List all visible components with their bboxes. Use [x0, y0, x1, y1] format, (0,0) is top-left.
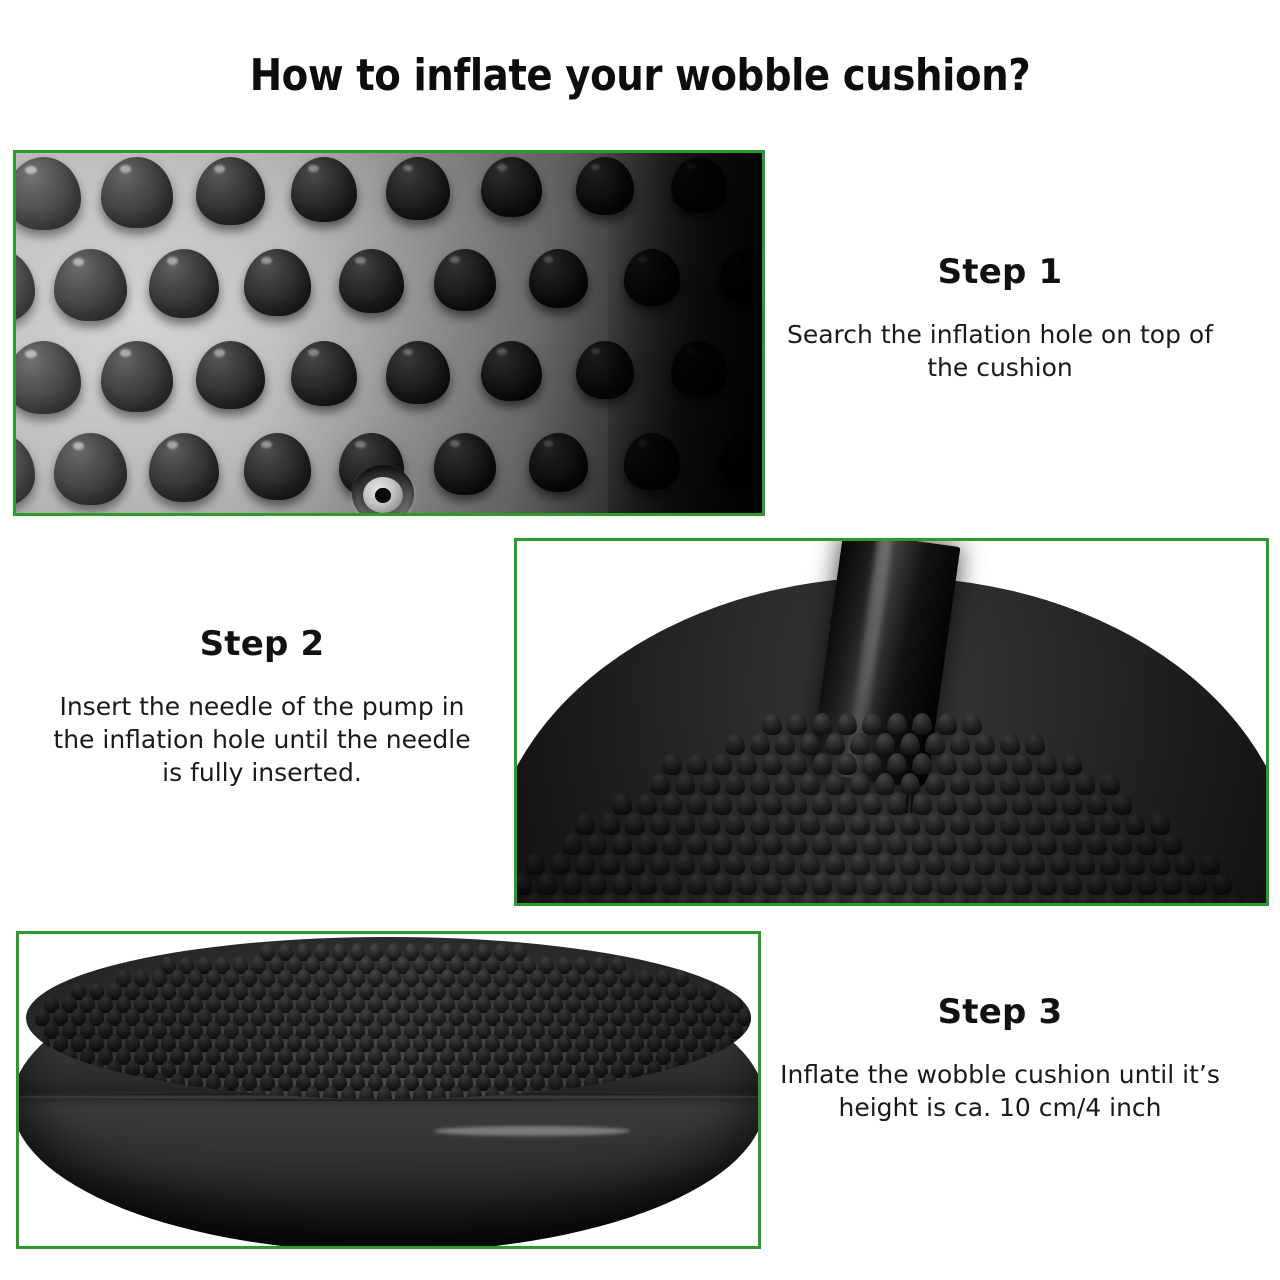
cushion-spike	[1062, 793, 1082, 815]
cushion-spike	[950, 773, 970, 795]
step-3-image	[16, 931, 761, 1249]
cushion-spike	[1212, 873, 1232, 895]
cushion-spike	[1125, 813, 1145, 835]
cushion-spike	[762, 793, 782, 815]
cushion-spike	[875, 853, 895, 875]
step-2-image	[514, 538, 1269, 906]
cushion-spike	[1012, 873, 1032, 895]
cushion-spike	[987, 873, 1007, 895]
cushion-spike	[875, 733, 895, 755]
cushion-spike	[737, 793, 757, 815]
cushion-spike	[1000, 813, 1020, 835]
cushion-spike	[1162, 873, 1182, 895]
step-2-text-block: Step 2 Insert the needle of the pump in …	[42, 624, 482, 789]
cushion-spike	[612, 833, 632, 855]
cushion-spike	[987, 833, 1007, 855]
cushion-spike	[700, 853, 720, 875]
cushion-spike	[1200, 853, 1220, 875]
cushion-spike	[1112, 873, 1132, 895]
cushion-spike	[1037, 873, 1057, 895]
cushion-spike	[937, 833, 957, 855]
cushion-spike	[1150, 853, 1170, 875]
cushion-surface-photo	[16, 153, 762, 513]
cushion-spike	[1075, 773, 1095, 795]
cushion-spike	[987, 793, 1007, 815]
cushion-spike	[712, 753, 732, 775]
cushion-spike	[837, 873, 857, 895]
cushion-spike	[937, 793, 957, 815]
cushion-spike	[687, 873, 707, 895]
cushion-spike	[1100, 773, 1120, 795]
cushion-spike	[1000, 733, 1020, 755]
cushion-spike	[975, 733, 995, 755]
cushion-spike	[900, 853, 920, 875]
cushion-spike	[787, 713, 807, 735]
cushion-spike	[850, 773, 870, 795]
cushion-spike	[1012, 753, 1032, 775]
cushion-spike	[775, 853, 795, 875]
cushion-spike	[925, 733, 945, 755]
cushion-spike	[1062, 873, 1082, 895]
cushion-spike	[837, 753, 857, 775]
cushion-spike	[787, 793, 807, 815]
cushion-spike	[550, 853, 570, 875]
cushion-spike	[887, 833, 907, 855]
cushion-spike	[875, 773, 895, 795]
step-1-heading: Step 1	[780, 252, 1220, 292]
cushion-spike	[600, 813, 620, 835]
cushion-spike	[787, 833, 807, 855]
cushion-spike	[900, 813, 920, 835]
cushion-spike	[625, 853, 645, 875]
cushion-spike	[962, 833, 982, 855]
cushion-spike	[675, 813, 695, 835]
cushion-spike	[1012, 833, 1032, 855]
cushion-spike	[762, 873, 782, 895]
infographic-page: How to inflate your wobble cushion?	[0, 0, 1280, 1280]
cushion-spike	[912, 873, 932, 895]
cushion-spike	[862, 873, 882, 895]
cushion-spike	[800, 773, 820, 795]
cushion-spike	[587, 833, 607, 855]
cushion-spike	[800, 853, 820, 875]
cushion-spike	[837, 833, 857, 855]
cushion-spike	[1050, 813, 1070, 835]
cushion-spike	[862, 713, 882, 735]
cushion-spike	[837, 793, 857, 815]
cushion-spike	[900, 773, 920, 795]
cushion-spike	[950, 813, 970, 835]
cushion-spike	[1037, 793, 1057, 815]
cushion-spike	[1162, 833, 1182, 855]
cushion-spike	[762, 713, 782, 735]
cushion-spike	[650, 773, 670, 795]
cushion-spike	[812, 753, 832, 775]
cushion-spike	[950, 853, 970, 875]
cushion-spike	[575, 853, 595, 875]
cushion-spike	[750, 733, 770, 755]
cushion-spike	[862, 753, 882, 775]
step-1-image	[13, 150, 765, 516]
cushion-spike	[700, 773, 720, 795]
cushion-spike	[562, 833, 582, 855]
cushion-spike	[912, 833, 932, 855]
cushion-spike	[800, 733, 820, 755]
cushion-spike	[825, 733, 845, 755]
cushion-spike	[1087, 873, 1107, 895]
cushion-spike	[737, 753, 757, 775]
cushion-spike	[975, 773, 995, 795]
cushion-spike	[937, 873, 957, 895]
cushion-spike	[750, 813, 770, 835]
cushion-spike	[675, 773, 695, 795]
cushion-spike	[687, 833, 707, 855]
cushion-spike	[887, 713, 907, 735]
cushion-spike	[962, 753, 982, 775]
cushion-spike	[975, 813, 995, 835]
cushion-spike	[862, 793, 882, 815]
step-2-heading: Step 2	[42, 624, 482, 664]
cushion-spike	[912, 793, 932, 815]
cushion-spike	[1087, 833, 1107, 855]
cushion-spike	[825, 853, 845, 875]
cushion-spike	[887, 873, 907, 895]
cushion-spike	[725, 853, 745, 875]
cushion-spike	[900, 733, 920, 755]
cushion-spike	[775, 733, 795, 755]
cushion-spike	[1225, 893, 1245, 903]
cushion-spike	[1037, 833, 1057, 855]
cushion-spike	[800, 813, 820, 835]
cushion-spike	[1137, 873, 1157, 895]
cushion-spike	[937, 713, 957, 735]
cushion-spike	[925, 813, 945, 835]
cushion-spike	[825, 813, 845, 835]
cushion-spike	[1012, 793, 1032, 815]
cushion-spike	[737, 833, 757, 855]
cushion-spike	[912, 753, 932, 775]
cushion-spike	[887, 793, 907, 815]
cushion-spike	[662, 753, 682, 775]
cushion-spike	[1025, 773, 1045, 795]
cushion-spike	[787, 753, 807, 775]
pump-needle-photo	[517, 541, 1266, 903]
cushion-spike	[912, 713, 932, 735]
step-2-description: Insert the needle of the pump in the inf…	[42, 690, 482, 789]
cushion-spike	[1025, 813, 1045, 835]
cushion-spike	[1175, 853, 1195, 875]
cushion-spike	[925, 853, 945, 875]
cushion-spike	[612, 793, 632, 815]
cushion-spike	[812, 793, 832, 815]
cushion-spike	[725, 773, 745, 795]
cushion-spike	[812, 833, 832, 855]
cushion-spike	[525, 853, 545, 875]
cushion-spike	[1050, 773, 1070, 795]
cushion-spike	[712, 833, 732, 855]
step-3-heading: Step 3	[780, 992, 1220, 1032]
cushion-spike	[850, 813, 870, 835]
cushion-spike	[662, 873, 682, 895]
cushion-spike	[750, 773, 770, 795]
cushion-top-spikes	[26, 937, 750, 1099]
cushion-spike	[762, 753, 782, 775]
cushion-spike	[712, 793, 732, 815]
cushion-spike	[687, 753, 707, 775]
cushion-spike	[612, 873, 632, 895]
cushion-spike	[775, 773, 795, 795]
inflation-hole-ring	[363, 477, 403, 513]
cushion-spike	[850, 733, 870, 755]
cushion-spike	[887, 753, 907, 775]
cushion-spike	[650, 853, 670, 875]
cushion-spike	[862, 833, 882, 855]
step-3-text-block: Step 3 Inflate the wobble cushion until …	[780, 992, 1220, 1124]
cushion-spike	[537, 873, 557, 895]
cushion-spike	[562, 873, 582, 895]
cushion-spike	[762, 833, 782, 855]
cushion-spike	[1100, 813, 1120, 835]
step-1-text-block: Step 1 Search the inflation hole on top …	[780, 252, 1220, 384]
cushion-spike	[1062, 833, 1082, 855]
cushion-spike	[850, 853, 870, 875]
cushion-spike	[675, 853, 695, 875]
cushion-dark-edge	[608, 153, 762, 513]
cushion-spike	[812, 713, 832, 735]
cushion-spike	[962, 713, 982, 735]
cushion-spike	[950, 733, 970, 755]
cushion-spike	[712, 873, 732, 895]
cushion-spike	[937, 753, 957, 775]
cushion-spike	[662, 793, 682, 815]
cushion-spike	[1050, 853, 1070, 875]
cushion-spike	[637, 873, 657, 895]
cushion-spike	[1087, 793, 1107, 815]
cushion-spike	[1112, 833, 1132, 855]
cushion-spike	[975, 853, 995, 875]
cushion-spike	[825, 773, 845, 795]
cushion-spike	[875, 813, 895, 835]
cushion-spike	[687, 793, 707, 815]
cushion-spike	[1137, 833, 1157, 855]
cushion-spike	[1150, 813, 1170, 835]
cushion-spike	[812, 873, 832, 895]
cushion-spike	[837, 713, 857, 735]
cushion-spike	[1062, 753, 1082, 775]
cushion-spike	[700, 813, 720, 835]
cushion-spike	[637, 793, 657, 815]
cushion-spike	[1100, 853, 1120, 875]
cushion-spike	[650, 813, 670, 835]
cushion-spike	[987, 753, 1007, 775]
cushion-spike	[517, 873, 532, 895]
inflation-hole-opening	[375, 488, 391, 503]
cushion-spike	[1037, 753, 1057, 775]
step-1-description: Search the inflation hole on top of the …	[780, 318, 1220, 384]
cushion-spike	[662, 833, 682, 855]
cushion-spike	[1025, 853, 1045, 875]
cushion-spike	[1075, 853, 1095, 875]
cushion-spike	[575, 813, 595, 835]
inflated-cushion-photo	[19, 934, 758, 1246]
cushion-spike	[1125, 853, 1145, 875]
cushion-spike	[725, 733, 745, 755]
cushion-spike	[1187, 873, 1207, 895]
cushion-spike	[625, 813, 645, 835]
cushion-spike	[925, 773, 945, 795]
cushion-spike	[637, 833, 657, 855]
cushion-spike	[775, 813, 795, 835]
cushion-spike	[962, 793, 982, 815]
cushion-spike	[587, 873, 607, 895]
cushion-spike	[1025, 733, 1045, 755]
cushion-spike	[1075, 813, 1095, 835]
cushion-spike	[1112, 793, 1132, 815]
step-3-description: Inflate the wobble cushion until it’s he…	[780, 1058, 1220, 1124]
cushion-spike	[600, 853, 620, 875]
cushion-highlight	[434, 1126, 630, 1136]
cushion-spike	[962, 873, 982, 895]
cushion-spike	[787, 873, 807, 895]
cushion-spike	[1000, 853, 1020, 875]
cushion-spike	[725, 813, 745, 835]
cushion-spiked-top	[26, 937, 750, 1099]
cushion-spike	[1000, 773, 1020, 795]
cushion-spike	[750, 853, 770, 875]
page-title: How to inflate your wobble cushion?	[77, 50, 1203, 101]
cushion-spike	[737, 873, 757, 895]
